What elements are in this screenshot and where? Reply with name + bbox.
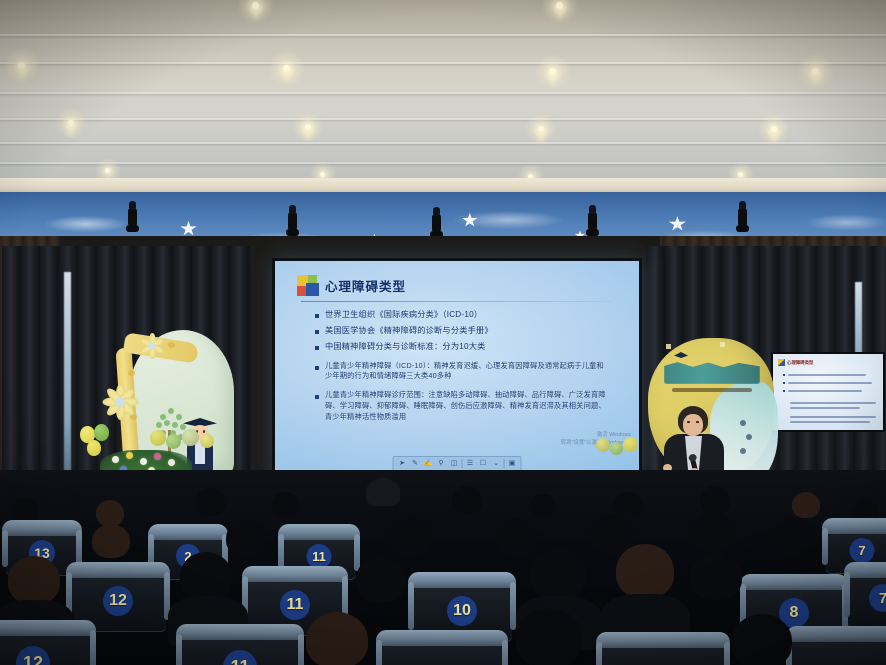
monitor-screen: 心理障碍类型 [773,354,883,430]
pen-icon[interactable]: ✎ [409,458,422,469]
ceiling-light [105,168,110,173]
balloon [87,440,101,456]
seat-number-badge: 11 [280,590,310,620]
slide-frame-icon[interactable]: ◫ [448,458,461,469]
ceiling-light [549,68,556,75]
balloon [94,424,109,441]
ceiling-light [305,124,311,130]
audience-head [388,516,432,556]
auditorium-seat[interactable]: 7 [848,566,886,628]
slide-title: 心理障碍类型 [325,276,406,295]
stage-spotlight [128,208,137,228]
monitor-slide-title: 心理障碍类型 [787,360,813,366]
magnifier-icon[interactable]: ⚲ [435,458,448,469]
flower-decal [100,382,140,422]
slide-title-row: 心理障碍类型 [297,275,406,295]
audience-head [496,518,538,556]
pointer-icon[interactable]: ➤ [396,458,409,469]
audience-head [8,556,60,604]
audience-head [516,608,582,665]
auditorium-seat[interactable] [600,636,726,665]
stage-spotlight [432,214,441,234]
ceiling-light [283,65,290,72]
audience-head [792,492,820,518]
presenter-face [683,414,703,436]
ceiling-light [738,172,743,177]
powerpoint-logo-icon [297,275,317,295]
auditorium-photo: 心理障碍类型 世界卫生组织《国际疾病分类》（ICD-10） 美国医学协会《精神障… [0,0,886,665]
menu-icon[interactable]: ☰ [464,458,477,469]
bullet-text: 中国精神障碍分类与诊断标准：分为10大类 [325,341,485,353]
audience-head [226,520,266,556]
audience-head [306,612,368,665]
sub-bullet-text: 儿童青少年精神障碍（ICD-10）：精神发育迟缓、心理发育因障碍及通常起病于儿童… [325,361,611,383]
audience-head [770,516,812,554]
ceiling [0,0,886,186]
audience-head [366,478,400,506]
audience-head [690,512,734,552]
audience-head [690,552,742,600]
audience-head [356,556,406,602]
seat-number-badge: 10 [447,596,477,626]
ceiling-light [252,2,259,9]
window-light-slit [64,272,71,474]
title-divider [301,301,611,302]
audience-head [530,548,586,600]
audience-head [616,544,674,598]
auditorium-seat[interactable]: 12 [0,624,92,665]
stage-spotlight [738,208,747,228]
audience-head [272,492,300,518]
seat-number-badge: 7 [850,538,875,563]
star-decal [462,213,478,228]
auditorium-seat[interactable]: 11 [180,628,300,665]
presentation-toolbar[interactable]: ➤ ✎ ✍ ⚲ ◫ ☰ ☐ ⌄ ▣ [393,456,522,471]
flower-decal [142,336,162,356]
bullet-marker-icon [315,366,319,370]
audience-head [700,486,730,514]
powerpoint-logo-icon [778,359,785,366]
graduation-backdrop-cutout [72,330,262,482]
audience-head [92,524,130,558]
ceiling-light [556,2,563,9]
ceiling-light [68,120,74,126]
slide-bullet: 中国精神障碍分类与诊断标准：分为10大类 [315,341,611,353]
seat-number-badge: 7 [869,584,886,612]
bullet-text: 世界卫生组织《国际疾病分类》（ICD-10） [325,309,482,321]
audience-head [452,486,482,514]
audience-head [196,488,226,516]
highlighter-icon[interactable]: ✍ [422,458,435,469]
sub-bullet-text: 儿童青少年精神障碍诊疗范围：注意缺陷多动障碍、抽动障碍、品行障碍、广泛发育障碍、… [325,390,611,422]
seat-number-badge: 11 [223,650,257,665]
stage-spotlight [588,212,597,232]
banner-headline [664,362,760,384]
auditorium-seat[interactable] [380,634,504,665]
ceiling-light [320,172,325,177]
stage-spotlight [288,212,297,232]
audience-head [12,498,38,522]
bullet-marker-icon [315,314,319,318]
chevron-down-icon[interactable]: ⌄ [490,458,503,469]
ceiling-light [812,68,819,75]
slide-show-icon[interactable]: ▣ [506,458,519,469]
decorative-ball-row [596,434,656,460]
auditorium-seat[interactable] [790,630,886,665]
star-decal [180,221,197,237]
slide-bullet: 世界卫生组织《国际疾病分类》（ICD-10） [315,309,611,321]
pen-options-icon[interactable]: ☐ [477,458,490,469]
ceiling-light [538,126,544,132]
bullet-marker-icon [315,346,319,350]
slide-bullet-list: 世界卫生组织《国际疾病分类》（ICD-10） 美国医学协会《精神障碍的诊断与分类… [315,309,611,427]
slide-bullet: 美国医学协会《精神障碍的诊断与分类手册》 [315,325,611,337]
graduation-cap-icon [674,352,688,358]
slide-sub-bullet: 儿童青少年精神障碍（ICD-10）：精神发育迟缓、心理发育因障碍及通常起病于儿童… [315,361,611,383]
decorative-ball-row [150,420,340,454]
seat-number-badge: 12 [16,646,50,665]
bullet-marker-icon [315,395,319,399]
banner-subtitle [672,388,752,392]
ceiling-light [18,62,25,69]
audience-head [180,552,232,600]
audience-head [96,500,124,526]
star-decal [668,216,686,232]
audience-head [530,494,556,518]
bullet-text: 美国医学协会《精神障碍的诊断与分类手册》 [325,325,493,337]
bullet-marker-icon [315,330,319,334]
ceiling-light [771,126,777,132]
audience-head [732,614,792,665]
seat-number-badge: 12 [103,586,133,616]
confidence-monitor: 心理障碍类型 [771,352,885,432]
slide-sub-bullet: 儿童青少年精神障碍诊疗范围：注意缺陷多动障碍、抽动障碍、品行障碍、广泛发育障碍、… [315,390,611,422]
